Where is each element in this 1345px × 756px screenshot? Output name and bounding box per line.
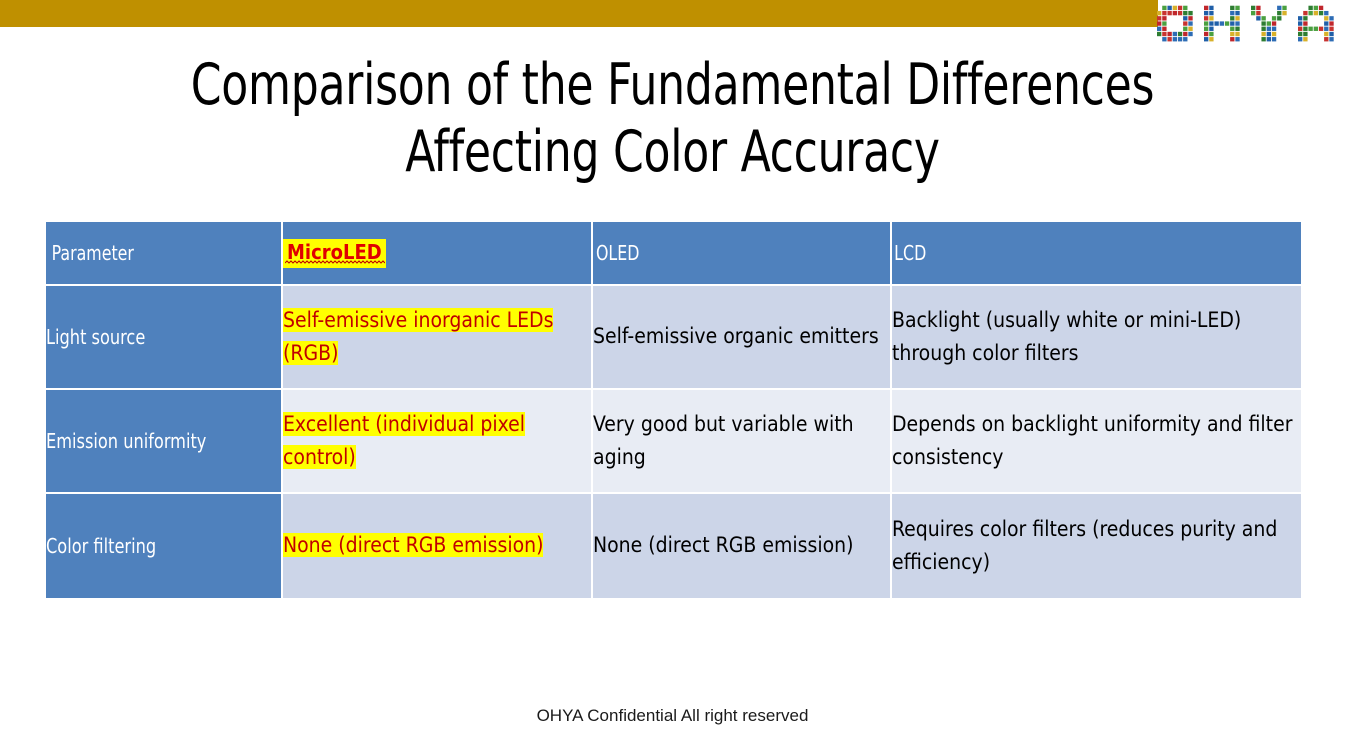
slide-title-line-1: Comparison of the Fundamental Difference…	[146, 52, 1200, 119]
column-header-microled-highlight: MicroLED	[283, 239, 386, 268]
column-header-oled-label: OLED	[596, 241, 639, 265]
column-header-microled: MicroLED	[283, 222, 591, 284]
column-header-lcd: LCD	[892, 222, 1301, 284]
row-microled-cell: Excellent (individual pixel control)	[283, 390, 591, 492]
table-row: Color filtering None (direct RGB emissio…	[46, 494, 1301, 598]
row-oled-cell: None (direct RGB emission)	[593, 494, 890, 598]
row-microled-cell: Self-emissive inorganic LEDs (RGB)	[283, 286, 591, 388]
row-parameter-label: Light source	[46, 325, 145, 349]
row-lcd-value: Depends on backlight uniformity and filt…	[892, 412, 1292, 469]
row-lcd-cell: Requires color filters (reduces purity a…	[892, 494, 1301, 598]
row-lcd-value: Backlight (usually white or mini-LED) th…	[892, 308, 1241, 365]
table-header-row: Parameter MicroLED OLED LCD	[46, 222, 1301, 284]
slide-title-line-2: Affecting Color Accuracy	[146, 119, 1200, 186]
row-parameter-cell: Color filtering	[46, 494, 281, 598]
row-oled-value: Self-emissive organic emitters	[593, 324, 879, 348]
column-header-parameter-label: Parameter	[52, 241, 134, 265]
row-lcd-cell: Backlight (usually white or mini-LED) th…	[892, 286, 1301, 388]
table-row: Emission uniformity Excellent (individua…	[46, 390, 1301, 492]
row-parameter-label: Color filtering	[46, 534, 156, 558]
table-row: Light source Self-emissive inorganic LED…	[46, 286, 1301, 388]
comparison-table: Parameter MicroLED OLED LCD	[44, 220, 1303, 600]
row-microled-value: Self-emissive inorganic LEDs (RGB)	[283, 308, 553, 365]
top-accent-bar	[0, 0, 1158, 27]
footer-confidentiality-notice: OHYA Confidential All right reserved	[0, 706, 1345, 726]
row-microled-value: None (direct RGB emission)	[283, 533, 543, 557]
spellcheck-squiggle-icon	[285, 260, 385, 264]
row-parameter-cell: Light source	[46, 286, 281, 388]
column-header-oled: OLED	[593, 222, 890, 284]
row-oled-value: None (direct RGB emission)	[593, 533, 853, 557]
column-header-parameter: Parameter	[46, 222, 281, 284]
row-parameter-label: Emission uniformity	[46, 429, 206, 453]
row-oled-value: Very good but variable with aging	[593, 412, 854, 469]
row-oled-cell: Very good but variable with aging	[593, 390, 890, 492]
slide-title: Comparison of the Fundamental Difference…	[146, 52, 1200, 187]
ohya-logo	[1157, 0, 1345, 48]
row-lcd-value: Requires color filters (reduces purity a…	[892, 517, 1277, 574]
row-microled-value: Excellent (individual pixel control)	[283, 412, 525, 469]
row-lcd-cell: Depends on backlight uniformity and filt…	[892, 390, 1301, 492]
comparison-table-container: Parameter MicroLED OLED LCD	[46, 222, 1299, 598]
column-header-lcd-label: LCD	[894, 241, 926, 265]
row-microled-cell: None (direct RGB emission)	[283, 494, 591, 598]
row-parameter-cell: Emission uniformity	[46, 390, 281, 492]
row-oled-cell: Self-emissive organic emitters	[593, 286, 890, 388]
